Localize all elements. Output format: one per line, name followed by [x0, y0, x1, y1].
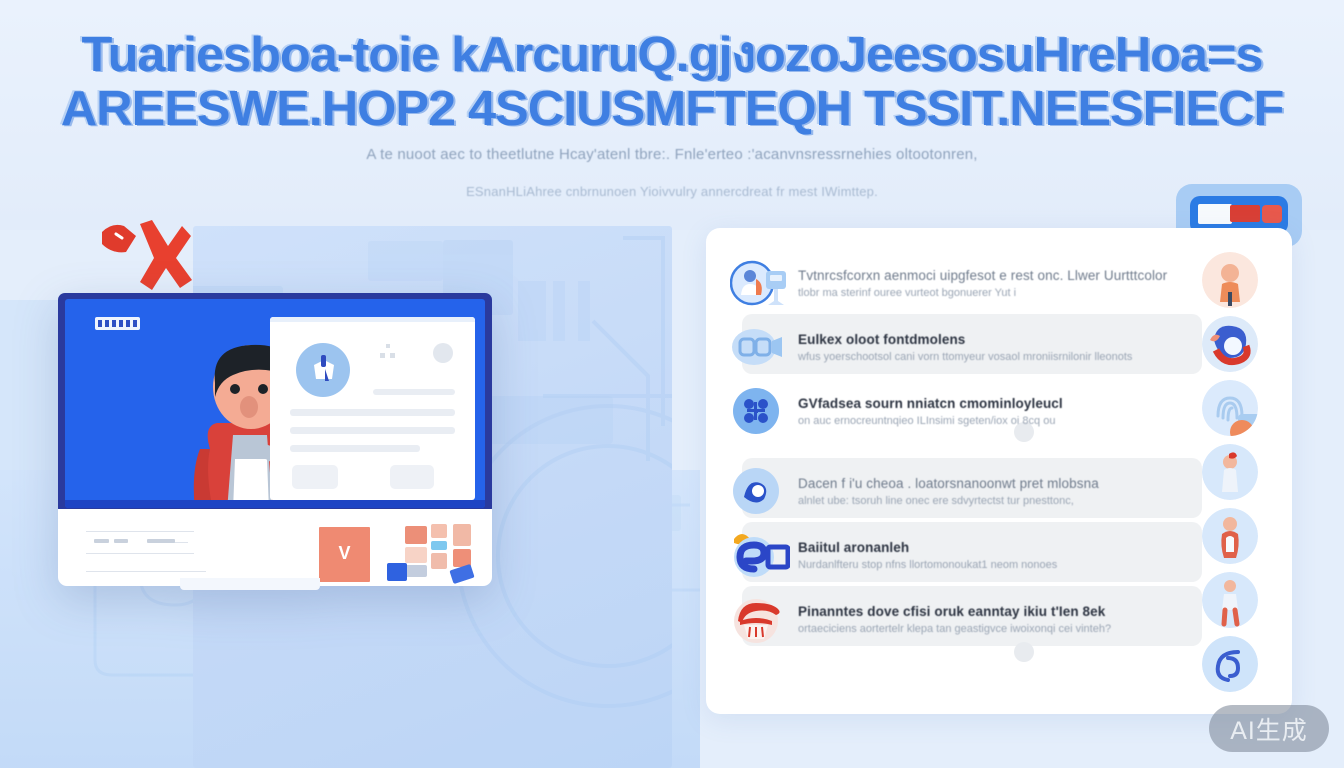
card-chip [292, 465, 338, 489]
monitor-screen [65, 299, 485, 508]
list-item-subtitle: wfus yoerschootsol cani vorn ttomyeur vo… [798, 351, 1218, 363]
list-item[interactable]: GVfadsea sourn nniatcn cmominloyleucl on… [730, 378, 1270, 444]
monitor-foot [180, 578, 320, 590]
eye-monitor-icon [730, 527, 790, 583]
avatar-headset-outline [1202, 636, 1258, 692]
list-item-text: Eulkex oloot fontdmolens wfus yoerschoot… [798, 332, 1218, 363]
monitor-illustration: V [58, 293, 492, 586]
list-item-subtitle: tlobr ma sterinf ouree vurteot bgonuerer… [798, 287, 1218, 299]
list-item-text: Pinanntes dove cfisi oruk eanntay ikiu t… [798, 604, 1218, 635]
list-item[interactable]: Pinanntes dove cfisi oruk eanntay ikiu t… [730, 586, 1270, 652]
ai-generated-watermark: AI生成 [1209, 705, 1329, 752]
loading-bar-icon [95, 317, 140, 330]
red-mushroom-icon [730, 591, 790, 647]
card-line [290, 409, 455, 416]
list-item-text: Dacen f i'u cheoa . loatorsnanoonwt pret… [798, 476, 1218, 507]
list-item-text: Tvtnrcsfcorxn aenmoci uipgfesot e rest o… [798, 268, 1218, 299]
list-item-title: Eulkex oloot fontdmolens [798, 332, 1218, 347]
avatar-figure-icon [308, 353, 340, 387]
list-item-subtitle: alnlet ube: tsoruh line onec ere sdvyrte… [798, 495, 1218, 507]
screen-bottom-strip [65, 500, 485, 508]
bubble-white-chip [1198, 204, 1232, 224]
monitor-base: V [58, 509, 492, 586]
list-item[interactable]: Dacen f i'u cheoa . loatorsnanoonwt pret… [730, 458, 1270, 524]
list-item-title: Dacen f i'u cheoa . loatorsnanoonwt pret… [798, 476, 1218, 491]
color-palette [403, 521, 483, 581]
avatar-person-standing [1202, 508, 1258, 564]
list-item-title: Pinanntes dove cfisi oruk eanntay ikiu t… [798, 604, 1218, 619]
coral-tile-letter: V [319, 543, 370, 564]
document-stack-icon [730, 463, 790, 519]
base-line [86, 571, 206, 572]
glasses-video-icon [730, 319, 790, 375]
bubble-red-chip [1262, 205, 1282, 223]
list-item-subtitle: on auc ernocreuntnqieo ILInsimi sgeten/i… [798, 415, 1218, 427]
card-line [290, 427, 455, 434]
list-item-title: GVfadsea sourn nniatcn cmominloyleucl [798, 396, 1218, 411]
screen-content-card [270, 317, 475, 500]
bubble-red-chip [1230, 205, 1260, 222]
list-item-subtitle: ortaeciciens aortertelr klepa tan geasti… [798, 623, 1218, 635]
coral-tile: V [319, 527, 370, 582]
base-line [86, 553, 194, 554]
avatar-person-red-scarf [1202, 444, 1258, 500]
network-nodes-icon [730, 383, 790, 439]
base-dash [147, 539, 175, 543]
sitemap-icon [380, 344, 396, 358]
list-item-title: Baiitul aronanleh [798, 540, 1218, 555]
avatar-person-walking [1202, 572, 1258, 628]
list-item[interactable]: Baiitul aronanleh Nurdanlfteru stop nfns… [730, 522, 1270, 588]
watermark-label: AI生成 [1230, 711, 1308, 747]
avatar-blue-red-swirl [1202, 316, 1258, 372]
card-chip [390, 465, 434, 489]
card-line [373, 389, 455, 395]
list-item-text: Baiitul aronanleh Nurdanlfteru stop nfns… [798, 540, 1218, 571]
avatar-person-orange [1202, 252, 1258, 308]
list-item-title: Tvtnrcsfcorxn aenmoci uipgfesot e rest o… [798, 268, 1218, 283]
base-line [86, 531, 194, 532]
card-line [290, 445, 420, 452]
card-circle-badge [433, 343, 453, 363]
list-item[interactable]: Eulkex oloot fontdmolens wfus yoerschoot… [730, 314, 1270, 380]
base-dash [94, 539, 109, 543]
red-cross-icon [96, 214, 192, 294]
list-item-subtitle: Nurdanlfteru stop nfns llortomonoukat1 n… [798, 559, 1218, 571]
person-monitor-icon [730, 255, 790, 311]
list-item[interactable]: Tvtnrcsfcorxn aenmoci uipgfesot e rest o… [730, 250, 1270, 316]
page-subtitle-line-1: A te nuoot aec to theetlutne Hcay'atenl … [0, 146, 1344, 163]
avatar-fingerprint [1202, 380, 1258, 436]
page-subtitle-line-2: ESnanHLiAhree cnbrnunoen Yioivvulry anne… [0, 184, 1344, 199]
list-item-text: GVfadsea sourn nniatcn cmominloyleucl on… [798, 396, 1218, 427]
base-dash [114, 539, 128, 543]
card-top-strip [270, 317, 475, 322]
screenshot-root: Tuariesboa-toie kArcuruQ.gjงozoJeesosuHr… [0, 0, 1344, 768]
side-avatar-column [1202, 252, 1260, 712]
